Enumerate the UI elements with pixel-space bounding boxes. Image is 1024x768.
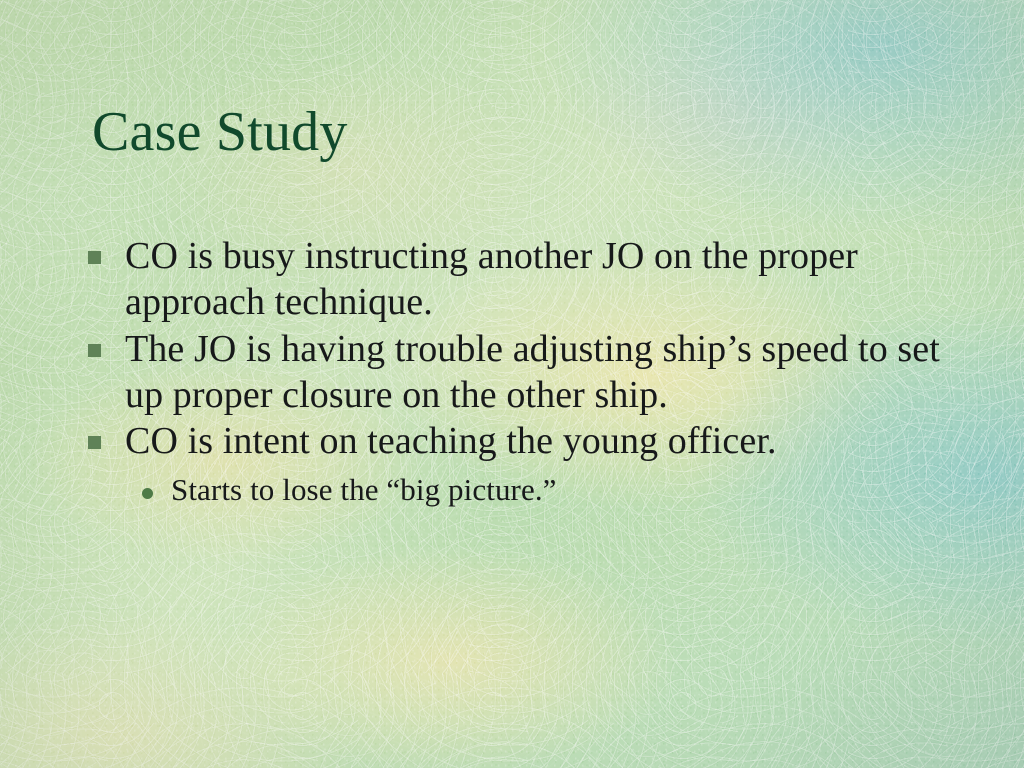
square-bullet-icon [88, 251, 101, 264]
square-bullet-icon [88, 344, 101, 357]
bullet-item-1: CO is busy instructing another JO on the… [88, 233, 948, 326]
bullet-item-2: The JO is having trouble adjusting ship’… [88, 326, 948, 419]
bullet-item-3: CO is intent on teaching the young offic… [88, 418, 948, 464]
round-bullet-icon [142, 488, 153, 499]
bullet-item-4-text: Starts to lose the “big picture.” [171, 471, 948, 508]
bullet-item-1-text: CO is busy instructing another JO on the… [125, 233, 948, 326]
slide-title: Case Study [92, 103, 348, 162]
presentation-slide: Case Study CO is busy instructing anothe… [0, 0, 1024, 768]
square-bullet-icon [88, 436, 101, 449]
bullet-item-2-text: The JO is having trouble adjusting ship’… [125, 326, 948, 419]
bullet-list: CO is busy instructing another JO on the… [88, 233, 948, 508]
slide-content: Case Study CO is busy instructing anothe… [0, 0, 1024, 768]
bullet-item-3-text: CO is intent on teaching the young offic… [125, 418, 948, 464]
bullet-item-4-sub: Starts to lose the “big picture.” [88, 471, 948, 508]
